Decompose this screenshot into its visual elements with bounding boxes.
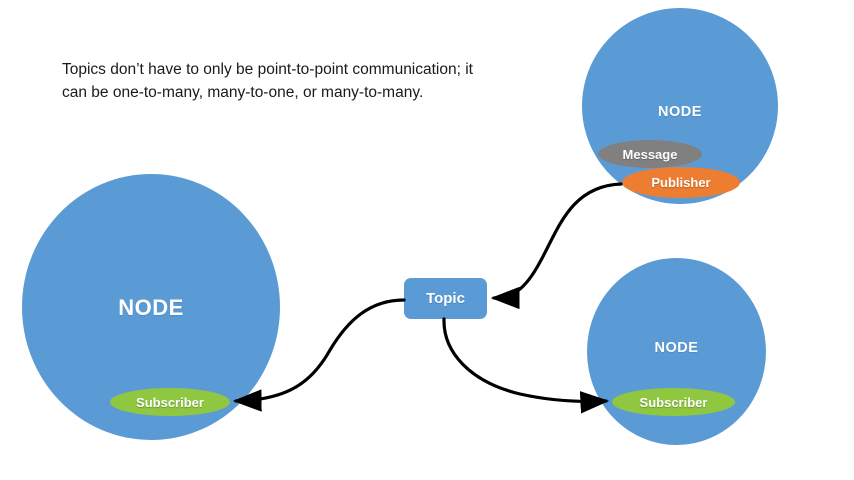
node-top-right-label: NODE (582, 104, 778, 120)
subscriber-bottom-right[interactable]: Subscriber (612, 388, 735, 416)
diagram-canvas: Topics don’t have to only be point-to-po… (0, 0, 854, 480)
publisher-label: Publisher (651, 175, 710, 190)
topic-box[interactable]: Topic (404, 278, 487, 319)
node-bottom-right-label: NODE (587, 340, 766, 356)
arrow-publisher-to-topic (494, 184, 621, 298)
caption-text: Topics don’t have to only be point-to-po… (62, 58, 482, 105)
arrow-topic-to-bottom-right-subscriber (444, 319, 606, 401)
subscriber-bottom-right-label: Subscriber (640, 395, 708, 410)
message-bubble[interactable]: Message (598, 140, 702, 168)
subscriber-left[interactable]: Subscriber (110, 388, 230, 416)
publisher-top-right[interactable]: Publisher (622, 167, 740, 198)
subscriber-left-label: Subscriber (136, 395, 204, 410)
topic-label: Topic (426, 290, 465, 307)
node-left-label: NODE (22, 295, 280, 321)
message-label: Message (623, 147, 678, 162)
